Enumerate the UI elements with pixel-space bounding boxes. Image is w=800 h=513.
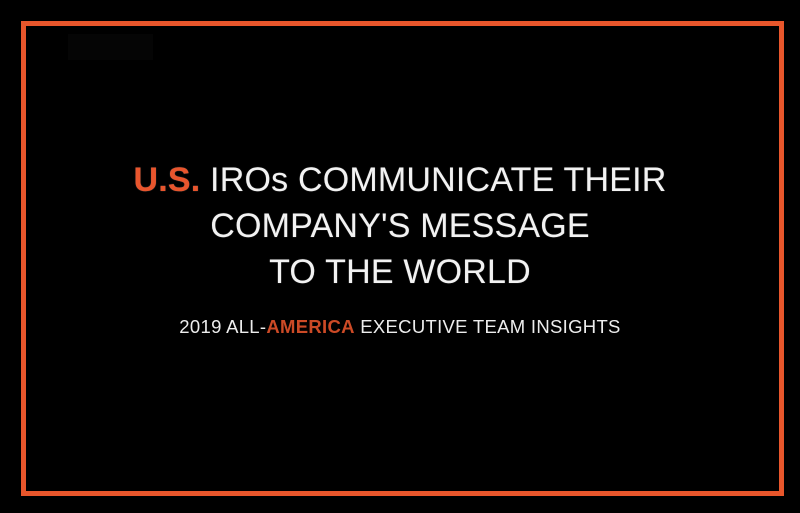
page-title: U.S. IROs COMMUNICATE THEIR COMPANY'S ME… [0, 157, 800, 295]
headline-line-1: U.S. IROs COMMUNICATE THEIR [0, 157, 800, 203]
headline-accent-us: U.S. [133, 161, 200, 199]
subtitle-accent-america: AMERICA [266, 316, 354, 337]
headline-line-3: TO THE WORLD [0, 249, 800, 295]
title-slide: U.S. IROs COMMUNICATE THEIR COMPANY'S ME… [0, 0, 800, 513]
slide-content: U.S. IROs COMMUNICATE THEIR COMPANY'S ME… [0, 0, 800, 513]
headline-line-2: COMPANY'S MESSAGE [0, 203, 800, 249]
subtitle-suffix: EXECUTIVE TEAM INSIGHTS [355, 316, 621, 337]
headline-line-1-rest: IROs COMMUNICATE THEIR [200, 161, 666, 199]
subtitle-prefix: 2019 ALL- [179, 316, 266, 337]
slide-subtitle: 2019 ALL-AMERICA EXECUTIVE TEAM INSIGHTS [0, 315, 800, 339]
